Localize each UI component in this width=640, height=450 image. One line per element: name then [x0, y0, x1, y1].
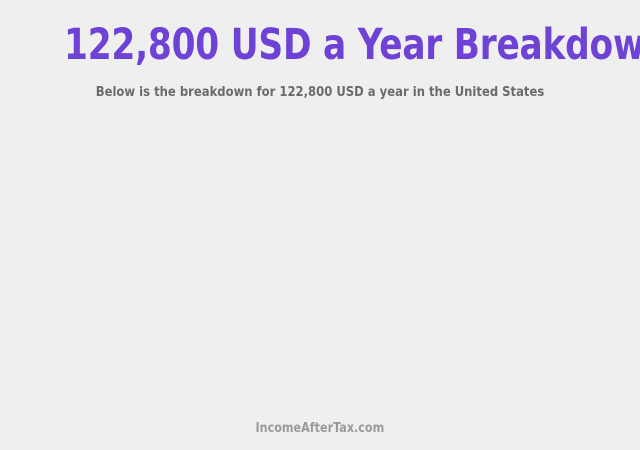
page-title: 122,800 USD a Year Breakdown: [64, 22, 576, 68]
chart-region: [0, 118, 640, 410]
chart-placeholder: [0, 118, 640, 410]
page-header: 122,800 USD a Year Breakdown Below is th…: [0, 0, 640, 100]
footer-brand-label: IncomeAfterTax.com: [256, 421, 385, 437]
page-footer: IncomeAfterTax.com: [0, 419, 640, 437]
page-subtitle: Below is the breakdown for 122,800 USD a…: [45, 68, 595, 100]
breakdown-page: 122,800 USD a Year Breakdown Below is th…: [0, 0, 640, 450]
